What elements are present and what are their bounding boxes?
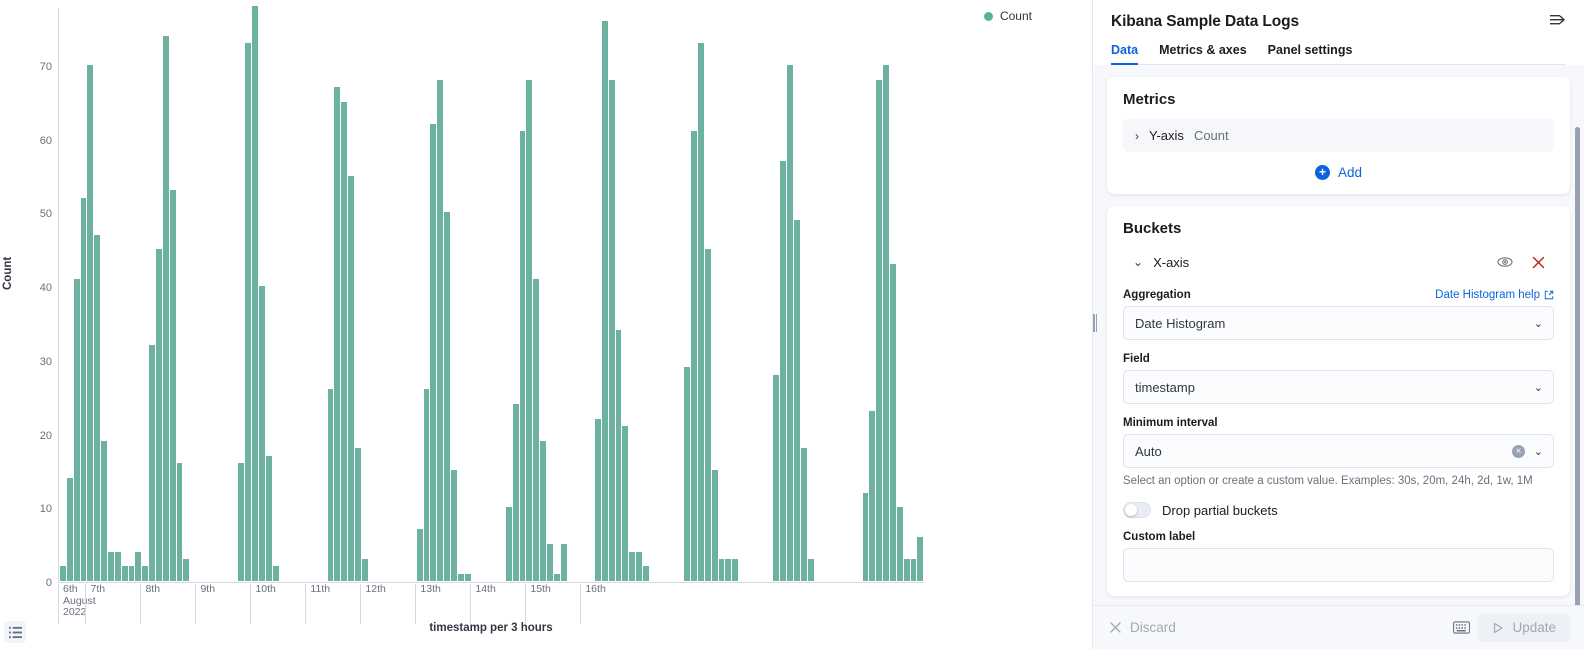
bar[interactable] bbox=[183, 559, 189, 581]
y-axis-tick-label: 50 bbox=[40, 208, 52, 220]
external-link-icon bbox=[1544, 290, 1554, 300]
drag-grip-line bbox=[1096, 314, 1098, 332]
chevron-down-icon: ⌄ bbox=[1534, 381, 1543, 394]
bar[interactable] bbox=[904, 559, 910, 581]
chevron-down-icon: ⌄ bbox=[1534, 317, 1543, 330]
tab-metrics-axes[interactable]: Metrics & axes bbox=[1159, 43, 1247, 64]
bar[interactable] bbox=[355, 448, 361, 581]
bar[interactable] bbox=[444, 212, 450, 581]
bar[interactable] bbox=[526, 80, 532, 581]
bar[interactable] bbox=[465, 574, 471, 581]
bar[interactable] bbox=[156, 249, 162, 581]
field-value: timestamp bbox=[1135, 380, 1195, 395]
bar[interactable] bbox=[430, 124, 436, 581]
minimum-interval-select[interactable]: Auto × ⌄ bbox=[1123, 434, 1554, 468]
close-icon[interactable] bbox=[1531, 255, 1546, 270]
bar[interactable] bbox=[238, 463, 244, 581]
bar[interactable] bbox=[719, 559, 725, 581]
bar[interactable] bbox=[252, 6, 258, 581]
x-axis-tick-label: 11th bbox=[305, 584, 330, 624]
y-axis-tick-label: 70 bbox=[40, 61, 52, 73]
discard-button[interactable]: Discard bbox=[1109, 620, 1176, 635]
bar[interactable] bbox=[245, 43, 251, 581]
bar[interactable] bbox=[451, 470, 457, 581]
drop-partial-buckets-toggle[interactable] bbox=[1123, 502, 1151, 518]
bar[interactable] bbox=[273, 566, 279, 581]
bar[interactable] bbox=[808, 559, 814, 581]
chevron-right-icon: › bbox=[1135, 129, 1139, 143]
drop-partial-buckets-row[interactable]: Drop partial buckets bbox=[1123, 502, 1554, 518]
bar[interactable] bbox=[773, 375, 779, 581]
bar[interactable] bbox=[609, 80, 615, 581]
custom-label-label: Custom label bbox=[1123, 531, 1554, 543]
discard-label: Discard bbox=[1130, 620, 1176, 635]
bar[interactable] bbox=[149, 345, 155, 581]
x-axis-tick-label: 15th bbox=[525, 584, 550, 624]
editor-sidebar: Kibana Sample Data Logs DataMetrics & ax… bbox=[1092, 0, 1584, 649]
bar[interactable] bbox=[801, 448, 807, 581]
bar[interactable] bbox=[780, 161, 786, 581]
date-histogram-help-link[interactable]: Date Histogram help bbox=[1435, 289, 1554, 301]
legend-label: Count bbox=[1000, 9, 1032, 23]
chevron-down-icon: ⌄ bbox=[1534, 445, 1543, 458]
metric-row-y-axis[interactable]: › Y-axis Count bbox=[1123, 119, 1554, 152]
bar[interactable] bbox=[540, 441, 546, 581]
bucket-row-label: X-axis bbox=[1153, 255, 1487, 270]
bar[interactable] bbox=[698, 43, 704, 581]
update-label: Update bbox=[1512, 620, 1556, 635]
bar[interactable] bbox=[101, 441, 107, 581]
bar[interactable] bbox=[60, 566, 66, 581]
bar[interactable] bbox=[602, 21, 608, 581]
bar[interactable] bbox=[547, 544, 553, 581]
plot-area: 010203040506070 bbox=[58, 8, 924, 583]
bar[interactable] bbox=[266, 456, 272, 581]
bar[interactable] bbox=[629, 552, 635, 581]
bar[interactable] bbox=[643, 566, 649, 581]
bar[interactable] bbox=[129, 566, 135, 581]
bar[interactable] bbox=[341, 102, 347, 581]
bar[interactable] bbox=[520, 131, 526, 581]
bar[interactable] bbox=[911, 559, 917, 581]
metrics-card-title: Metrics bbox=[1123, 91, 1554, 108]
update-button[interactable]: Update bbox=[1478, 613, 1570, 642]
x-axis-tick-label: 7th bbox=[85, 584, 105, 624]
collapse-panel-icon[interactable] bbox=[1549, 11, 1566, 32]
bar[interactable] bbox=[883, 65, 889, 581]
bar[interactable] bbox=[787, 65, 793, 581]
editor-tabs[interactable]: DataMetrics & axesPanel settings bbox=[1111, 43, 1566, 65]
buckets-card: Buckets ⌄ X-axis bbox=[1107, 206, 1570, 596]
chart-panel: Count Count 010203040506070 6th August 2… bbox=[0, 0, 1092, 649]
list-icon bbox=[9, 626, 22, 639]
add-metric-label: Add bbox=[1338, 165, 1362, 180]
y-axis-tick-label: 0 bbox=[46, 577, 52, 589]
minimum-interval-label: Minimum interval bbox=[1123, 417, 1554, 429]
bar[interactable] bbox=[513, 404, 519, 581]
bar[interactable] bbox=[74, 279, 80, 581]
x-axis-tick-label: 10th bbox=[250, 584, 275, 624]
clear-icon[interactable]: × bbox=[1512, 445, 1525, 458]
bar[interactable] bbox=[163, 36, 169, 582]
chart-legend[interactable]: Count bbox=[984, 9, 1032, 23]
x-axis-title: timestamp per 3 hours bbox=[58, 622, 924, 634]
metric-row-value: Count bbox=[1194, 128, 1229, 143]
field-label: Field bbox=[1123, 353, 1554, 365]
bar[interactable] bbox=[122, 566, 128, 581]
bar[interactable] bbox=[108, 552, 114, 581]
y-axis-tick-label: 10 bbox=[40, 503, 52, 515]
bar[interactable] bbox=[554, 574, 560, 581]
keyboard-icon[interactable] bbox=[1453, 621, 1470, 634]
bar[interactable] bbox=[170, 190, 176, 581]
chevron-down-icon: ⌄ bbox=[1133, 255, 1143, 269]
close-icon bbox=[1109, 621, 1122, 634]
bar[interactable] bbox=[506, 507, 512, 581]
panel-footer: Discard bbox=[1093, 605, 1584, 649]
bar[interactable] bbox=[458, 574, 464, 581]
bar[interactable] bbox=[869, 411, 875, 581]
x-axis-tick-label: 16th bbox=[580, 584, 605, 624]
play-icon bbox=[1492, 622, 1504, 634]
bar[interactable] bbox=[595, 419, 601, 581]
plus-icon: + bbox=[1315, 165, 1330, 180]
bar[interactable] bbox=[348, 176, 354, 581]
bar[interactable] bbox=[684, 367, 690, 581]
custom-label-input[interactable] bbox=[1123, 548, 1554, 582]
bar[interactable] bbox=[622, 426, 628, 581]
bar[interactable] bbox=[876, 80, 882, 581]
panel-header: Kibana Sample Data Logs DataMetrics & ax… bbox=[1093, 0, 1584, 65]
x-axis-tick-label: 14th bbox=[470, 584, 495, 624]
aggregation-label: Aggregation bbox=[1123, 289, 1191, 301]
eye-icon[interactable] bbox=[1497, 254, 1513, 270]
bar[interactable] bbox=[334, 87, 340, 581]
legend-color-swatch bbox=[984, 12, 993, 21]
y-axis-tick-label: 60 bbox=[40, 135, 52, 147]
bar[interactable] bbox=[616, 330, 622, 581]
bar[interactable] bbox=[67, 478, 73, 581]
drop-partial-buckets-label: Drop partial buckets bbox=[1162, 503, 1278, 518]
bar[interactable] bbox=[533, 279, 539, 581]
bar[interactable] bbox=[94, 235, 100, 581]
panel-resize-handle[interactable] bbox=[1093, 314, 1097, 332]
minimum-interval-hint: Select an option or create a custom valu… bbox=[1123, 474, 1554, 489]
x-axis-tick-label: 13th bbox=[415, 584, 440, 624]
tab-data[interactable]: Data bbox=[1111, 43, 1138, 64]
bar[interactable] bbox=[863, 493, 869, 581]
bar[interactable] bbox=[712, 470, 718, 581]
buckets-card-title: Buckets bbox=[1123, 220, 1554, 237]
bar[interactable] bbox=[177, 463, 183, 581]
bar[interactable] bbox=[81, 198, 87, 581]
y-axis-title: Count bbox=[2, 257, 14, 290]
panel-scroll-region: Metrics › Y-axis Count + Add Buckets ⌄ X… bbox=[1093, 65, 1584, 605]
legend-toggle-button[interactable] bbox=[4, 621, 26, 643]
panel-scrollbar[interactable] bbox=[1575, 127, 1580, 605]
aggregation-value: Date Histogram bbox=[1135, 316, 1225, 331]
metrics-card: Metrics › Y-axis Count + Add bbox=[1107, 77, 1570, 194]
bar[interactable] bbox=[259, 286, 265, 581]
bar[interactable] bbox=[917, 537, 923, 581]
bar[interactable] bbox=[794, 220, 800, 581]
plot-canvas: 010203040506070 bbox=[58, 8, 924, 583]
visualize-editor: Count Count 010203040506070 6th August 2… bbox=[0, 0, 1584, 649]
x-axis-tick-label: 8th bbox=[140, 584, 160, 624]
x-axis-tick-label: 12th bbox=[360, 584, 385, 624]
bar[interactable] bbox=[437, 80, 443, 581]
bucket-row-x-axis[interactable]: ⌄ X-axis bbox=[1123, 248, 1554, 276]
field-select[interactable]: timestamp ⌄ bbox=[1123, 370, 1554, 404]
bar[interactable] bbox=[890, 264, 896, 581]
bar[interactable] bbox=[897, 507, 903, 581]
bar[interactable] bbox=[417, 529, 423, 581]
metric-row-label: Y-axis bbox=[1149, 128, 1184, 143]
toggle-knob bbox=[1125, 504, 1137, 516]
drag-grip-line bbox=[1093, 314, 1095, 332]
add-metric-button[interactable]: + Add bbox=[1123, 165, 1554, 180]
bar[interactable] bbox=[725, 559, 731, 581]
bar[interactable] bbox=[142, 566, 148, 581]
bar[interactable] bbox=[87, 65, 93, 581]
y-axis-tick-label: 30 bbox=[40, 356, 52, 368]
aggregation-select[interactable]: Date Histogram ⌄ bbox=[1123, 306, 1554, 340]
bar[interactable] bbox=[135, 552, 141, 581]
y-axis-tick-label: 40 bbox=[40, 282, 52, 294]
bar-series[interactable] bbox=[60, 8, 924, 581]
bar[interactable] bbox=[115, 552, 121, 581]
bar[interactable] bbox=[732, 559, 738, 581]
bar[interactable] bbox=[636, 552, 642, 581]
minimum-interval-value: Auto bbox=[1135, 444, 1162, 459]
tab-panel-settings[interactable]: Panel settings bbox=[1268, 43, 1353, 64]
help-link-label: Date Histogram help bbox=[1435, 289, 1540, 301]
bar[interactable] bbox=[424, 389, 430, 581]
bar[interactable] bbox=[691, 131, 697, 581]
y-axis-tick-label: 20 bbox=[40, 430, 52, 442]
page-title: Kibana Sample Data Logs bbox=[1111, 13, 1299, 31]
bar[interactable] bbox=[561, 544, 567, 581]
bar[interactable] bbox=[705, 249, 711, 581]
bar[interactable] bbox=[328, 389, 334, 581]
bar[interactable] bbox=[362, 559, 368, 581]
x-axis-tick-label: 9th bbox=[195, 584, 215, 624]
